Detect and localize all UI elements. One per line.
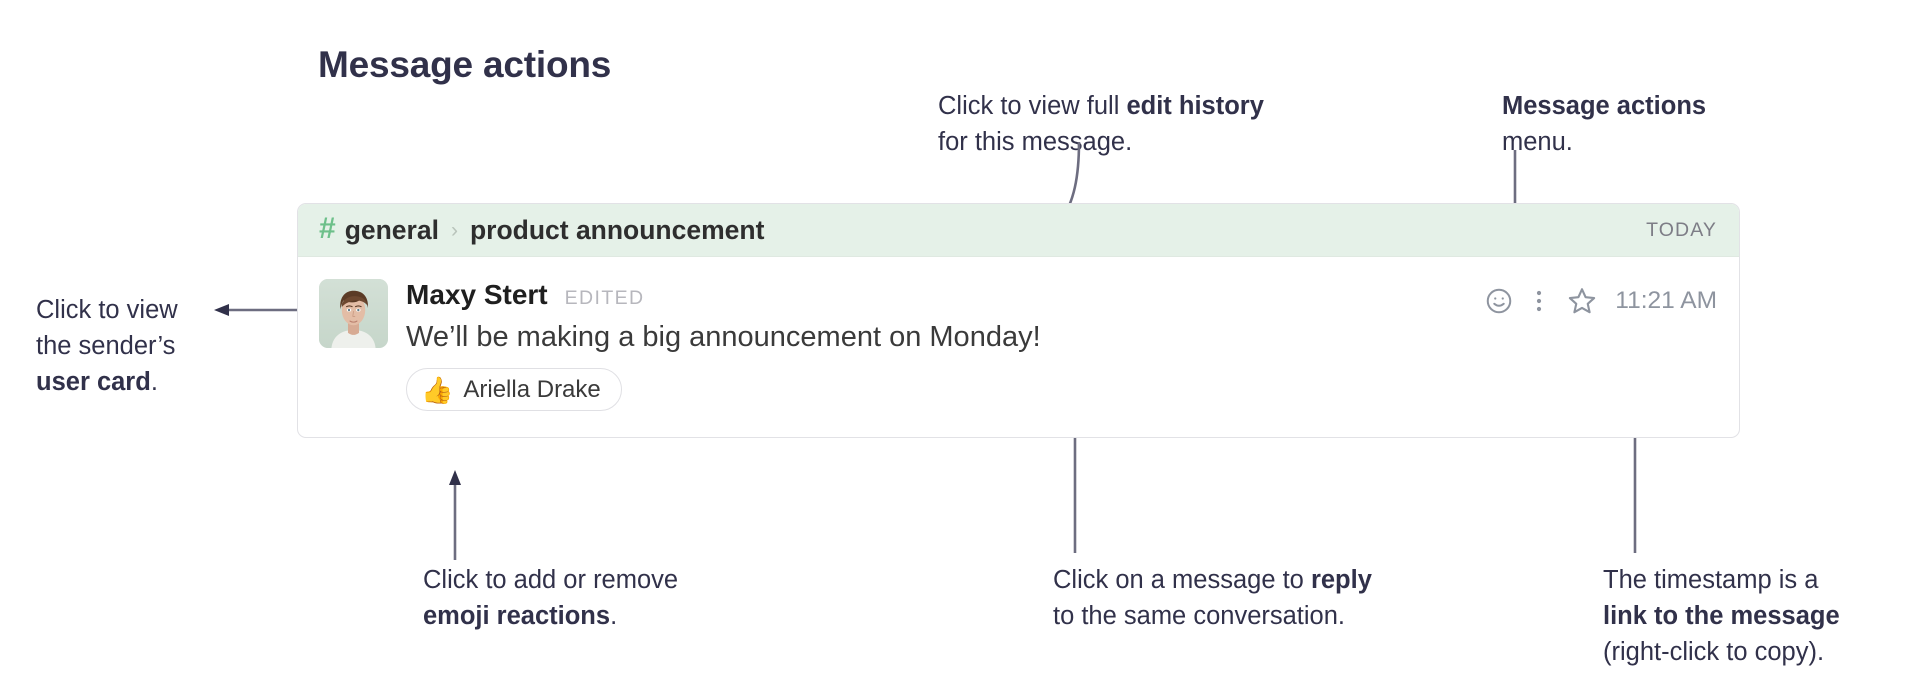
avatar-image <box>319 279 388 348</box>
annotation-reply: Click on a message to reply to the same … <box>1053 562 1372 634</box>
annotation-emphasis: Message actions <box>1502 92 1706 120</box>
leader-line-emoji-reactions <box>440 470 470 560</box>
annotation-reply-line1: Click on a message to reply <box>1053 562 1372 598</box>
recipient-bar[interactable]: # general › product announcement TODAY <box>298 204 1739 257</box>
hash-icon[interactable]: # <box>319 214 336 244</box>
reaction-pill[interactable]: 👍 Ariella Drake <box>406 368 622 411</box>
annotation-user-card-line3: user card. <box>36 364 178 400</box>
annotation-edit-history: Click to view full edit history for this… <box>938 88 1264 160</box>
stream-name[interactable]: general <box>345 215 439 246</box>
message-timestamp[interactable]: 11:21 AM <box>1615 287 1717 315</box>
reactions-row: 👍 Ariella Drake <box>406 368 1717 437</box>
annotation-emoji-line2: emoji reactions. <box>423 598 678 634</box>
annotation-timestamp: The timestamp is a link to the message (… <box>1603 562 1840 670</box>
annotation-text: Click on a message to <box>1053 566 1311 594</box>
annotation-user-card-line2: the sender’s <box>36 328 178 364</box>
annotation-actions-menu-line2: menu. <box>1502 124 1706 160</box>
message-controls: 11:21 AM <box>1477 284 1717 318</box>
message-body[interactable]: We’ll be making a big announcement on Mo… <box>406 321 1717 354</box>
annotation-emphasis: user card <box>36 368 151 396</box>
reaction-label: Ariella Drake <box>463 376 600 404</box>
annotation-reply-line2: to the same conversation. <box>1053 598 1372 634</box>
star-icon[interactable] <box>1557 284 1607 318</box>
annotation-timestamp-line3: (right-click to copy). <box>1603 634 1840 670</box>
topic-name[interactable]: product announcement <box>470 215 764 246</box>
leader-line-reply <box>1060 418 1090 553</box>
annotation-user-card-line1: Click to view <box>36 292 178 328</box>
sender-name[interactable]: Maxy Stert <box>406 279 548 311</box>
annotation-edit-history-line2: for this message. <box>938 124 1264 160</box>
thumbs-up-icon: 👍 <box>421 377 453 403</box>
page-root: Message actions Click to view full edit … <box>0 0 1924 696</box>
annotation-text: . <box>610 602 617 630</box>
annotation-emphasis: link to the message <box>1603 602 1840 630</box>
annotation-text: . <box>151 368 158 396</box>
annotation-timestamp-line1: The timestamp is a <box>1603 562 1840 598</box>
edited-badge[interactable]: EDITED <box>565 287 645 310</box>
annotation-actions-menu: Message actions menu. <box>1502 88 1706 160</box>
annotation-emphasis: reply <box>1311 566 1372 594</box>
annotation-emphasis: emoji reactions <box>423 602 610 630</box>
message-card: # general › product announcement TODAY <box>297 203 1740 438</box>
message-row[interactable]: Maxy Stert EDITED We’ll be making a big … <box>298 257 1739 437</box>
annotation-emoji-reactions: Click to add or remove emoji reactions. <box>423 562 678 634</box>
annotation-emoji-line1: Click to add or remove <box>423 562 678 598</box>
annotation-text: Click to view full <box>938 92 1126 120</box>
date-label: TODAY <box>1646 219 1717 242</box>
chevron-right-icon: › <box>451 220 458 241</box>
annotation-actions-menu-line1: Message actions <box>1502 88 1706 124</box>
actions-menu-icon[interactable] <box>1521 284 1557 318</box>
emoji-picker-icon[interactable] <box>1477 284 1521 318</box>
annotation-timestamp-line2: link to the message <box>1603 598 1840 634</box>
annotation-edit-history-line1: Click to view full edit history <box>938 88 1264 124</box>
page-title: Message actions <box>318 44 611 86</box>
annotation-user-card: Click to view the sender’s user card. <box>36 292 178 400</box>
annotation-emphasis: edit history <box>1126 92 1263 120</box>
avatar[interactable] <box>319 279 388 348</box>
